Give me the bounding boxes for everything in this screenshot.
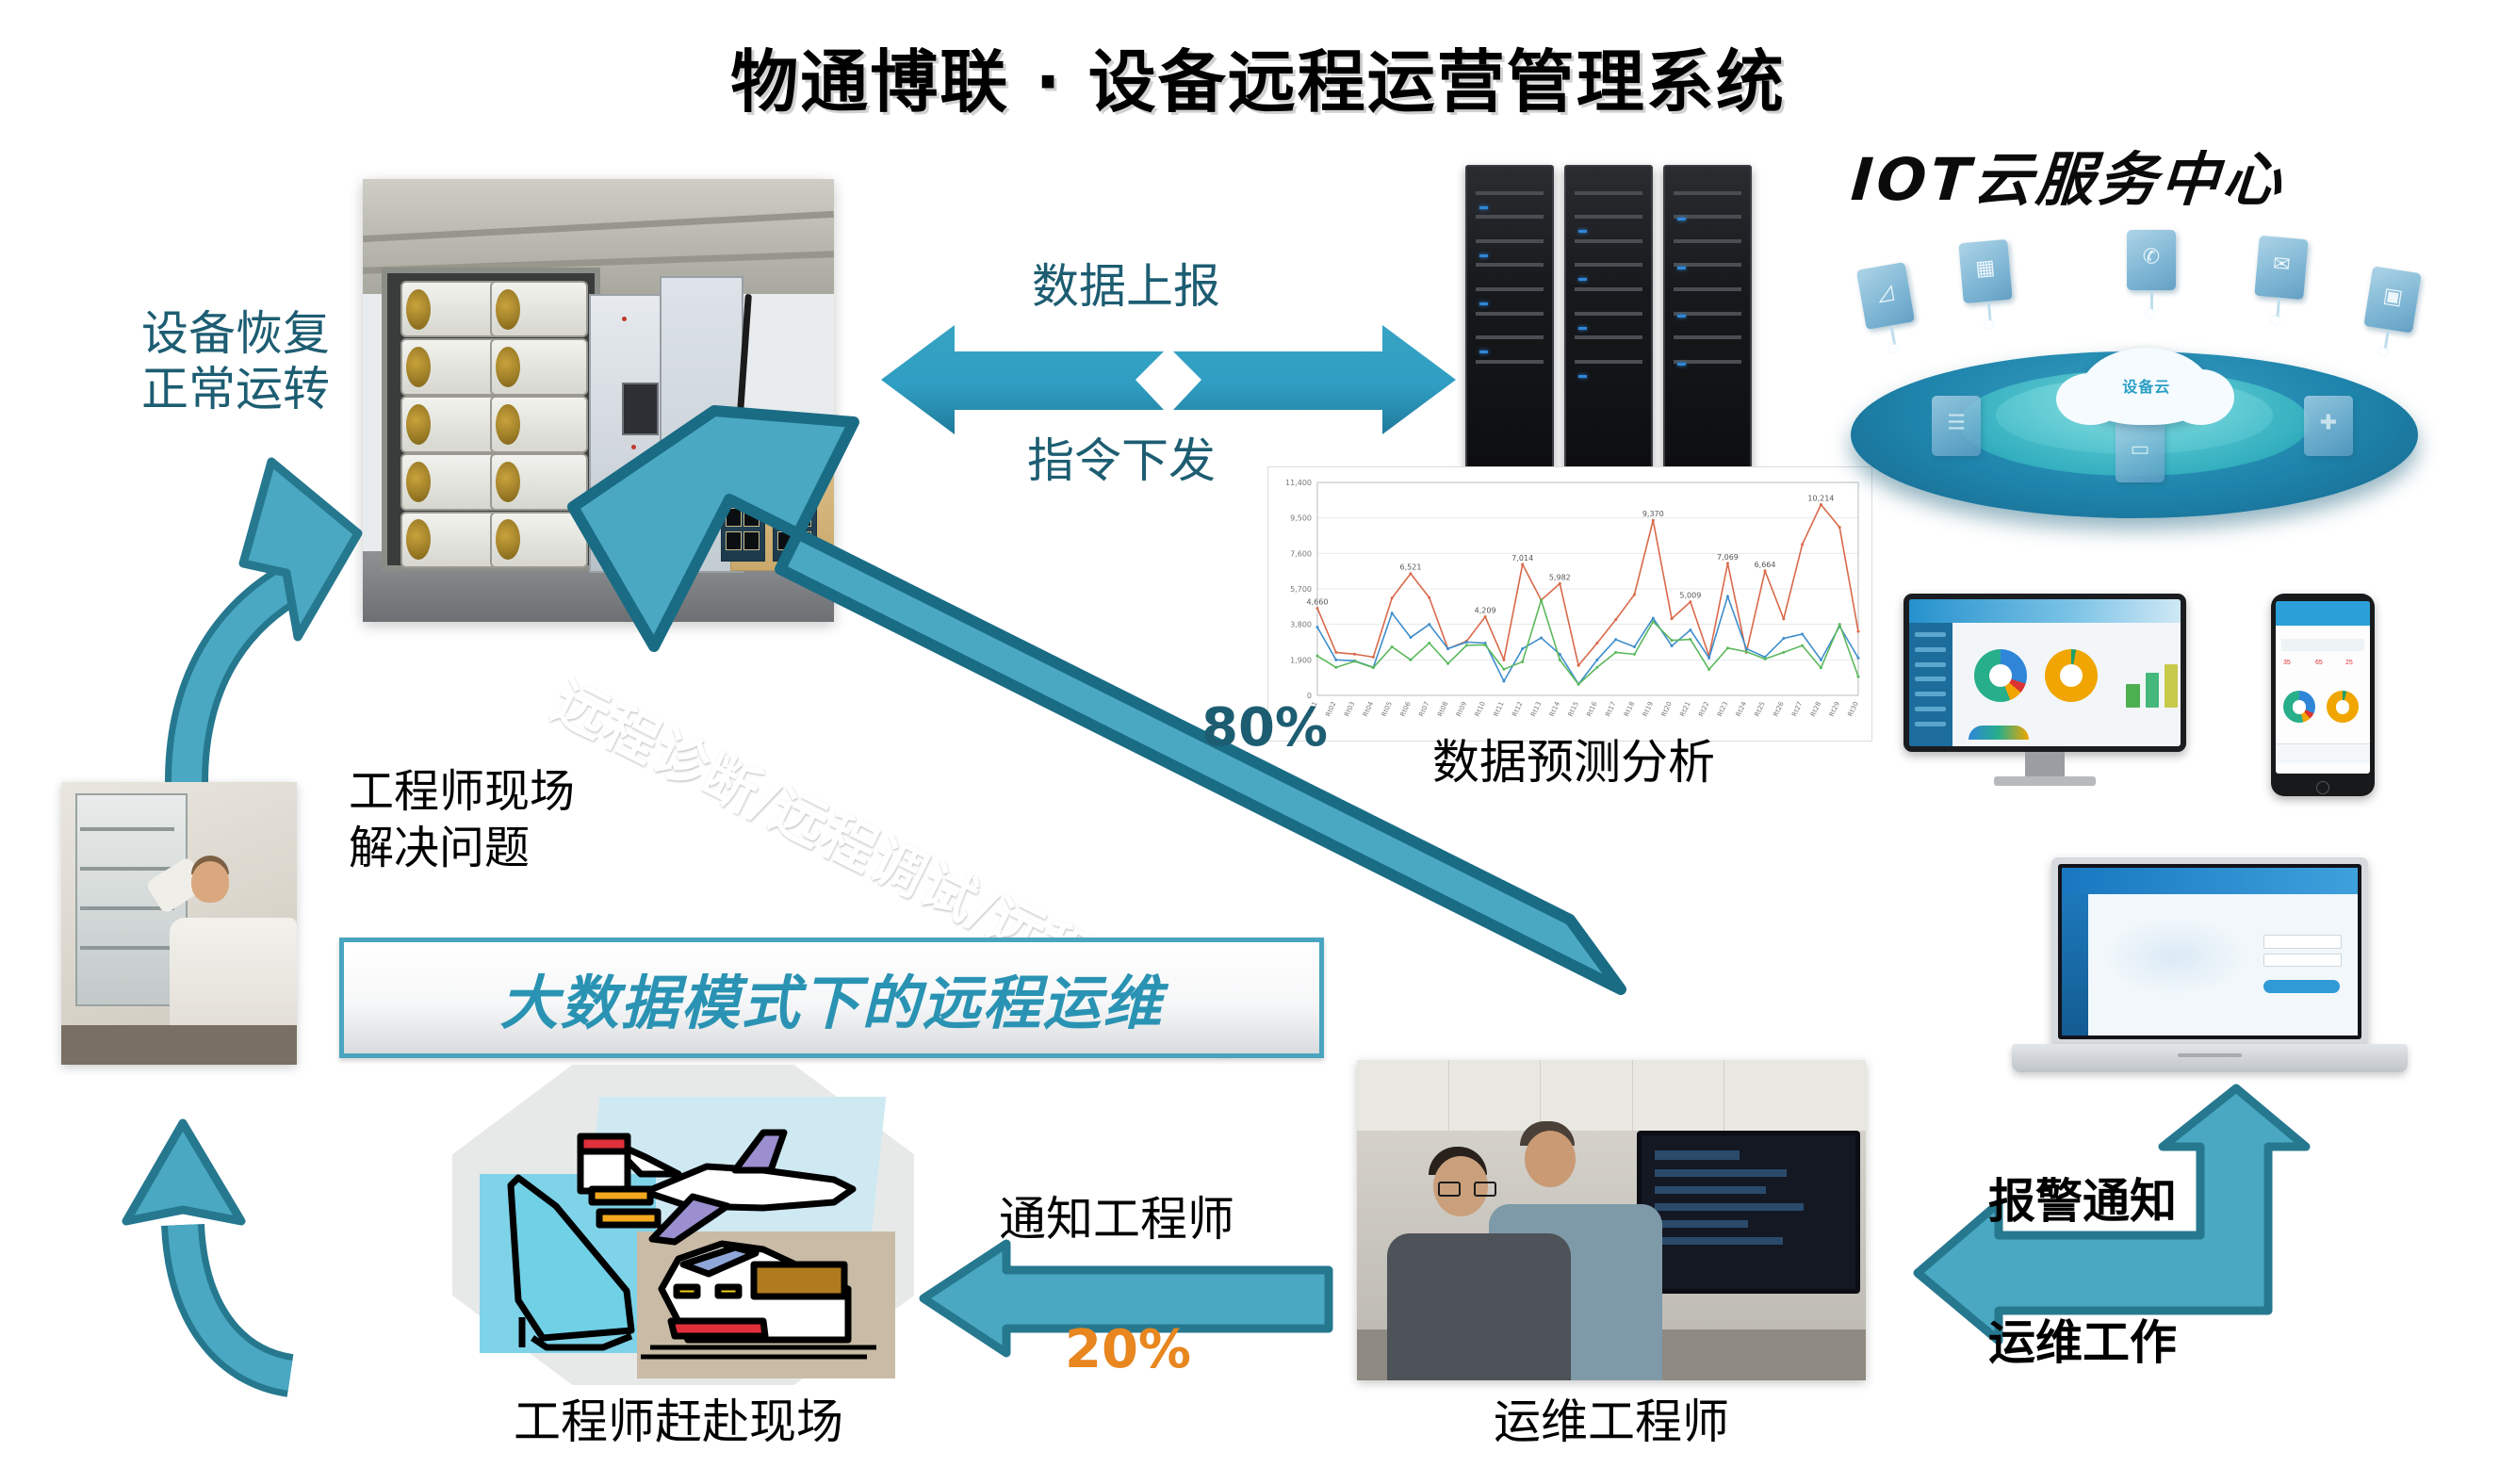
svg-text:6,664: 6,664 bbox=[1755, 561, 1776, 569]
screen-card-icon: ▭ bbox=[2116, 422, 2165, 482]
svg-text:10,214: 10,214 bbox=[1807, 495, 1834, 503]
percent-onsite-resolution: 20% bbox=[1065, 1319, 1191, 1380]
label-ops-work: 运维工作 bbox=[1988, 1314, 2177, 1370]
label-command-down: 指令下发 bbox=[1027, 433, 1216, 489]
caption-engineer-go-onsite: 工程师赶赴现场 bbox=[514, 1394, 843, 1450]
alarm-status-donut bbox=[2045, 649, 2098, 702]
label-data-upload: 数据上报 bbox=[1032, 259, 1220, 315]
plus-card-icon: ✚ bbox=[2304, 396, 2353, 456]
page-title: 物通博联 · 设备远程运营管理系统 bbox=[0, 26, 2516, 125]
percent-remote-resolution: 80% bbox=[1201, 697, 1328, 758]
message-card-icon: ✉ bbox=[2254, 236, 2308, 300]
transport-clipart bbox=[452, 1065, 914, 1385]
caption-ops-engineer: 运维工程师 bbox=[1494, 1394, 1729, 1450]
highlight-box: 大数据模式下的远程运维 bbox=[339, 938, 1324, 1058]
svg-text:7,069: 7,069 bbox=[1717, 553, 1739, 562]
label-notify-engineer: 通知工程师 bbox=[999, 1192, 1234, 1248]
document-card-icon: ☰ bbox=[1932, 396, 1981, 456]
svg-text:9,370: 9,370 bbox=[1642, 510, 1664, 518]
arrow-restore-equipment bbox=[75, 452, 368, 801]
desktop-monitor-dashboard bbox=[1903, 594, 2186, 796]
train-icon bbox=[641, 1244, 876, 1357]
bar-1 bbox=[2126, 684, 2139, 708]
label-engineer-onsite: 工程师现场 解决问题 bbox=[349, 763, 660, 876]
field-engineer-photo bbox=[61, 782, 297, 1065]
laptop-login-page: 4.0 bbox=[2012, 853, 2408, 1088]
iot-cloud-heading: IOT云服务中心 bbox=[1849, 132, 2439, 217]
infographic-canvas: 物通博联 · 设备远程运营管理系统 bbox=[0, 0, 2516, 1484]
iot-cloud-platform-graphic: ◿ ▦ ✆ ✉ ▣ ☰ ▭ ✚ 设备云 bbox=[1833, 217, 2436, 537]
bar-3 bbox=[2165, 664, 2178, 709]
highlight-box-text: 大数据模式下的远程运维 bbox=[344, 942, 1319, 1053]
label-data-forecast: 数据预测分析 bbox=[1432, 735, 1715, 791]
cloud-center-label: 设备云 bbox=[2080, 374, 2213, 397]
bar-2 bbox=[2146, 673, 2159, 708]
svg-text:5,009: 5,009 bbox=[1679, 592, 1701, 600]
arrow-engineer-to-site bbox=[85, 1093, 330, 1404]
device-status-donut bbox=[1974, 649, 2027, 702]
mobile-phone-dashboard: 35 65 25 bbox=[2271, 594, 2375, 796]
label-alarm-notice: 报警通知 bbox=[1988, 1173, 2177, 1229]
monitor-card-icon: ▣ bbox=[2363, 266, 2421, 333]
calendar-card-icon: ▦ bbox=[1958, 239, 2012, 303]
label-equipment-restore: 设备恢复 正常运转 bbox=[113, 306, 358, 417]
chart-card-icon: ◿ bbox=[1856, 262, 1915, 330]
contact-card-icon: ✆ bbox=[2127, 230, 2176, 290]
